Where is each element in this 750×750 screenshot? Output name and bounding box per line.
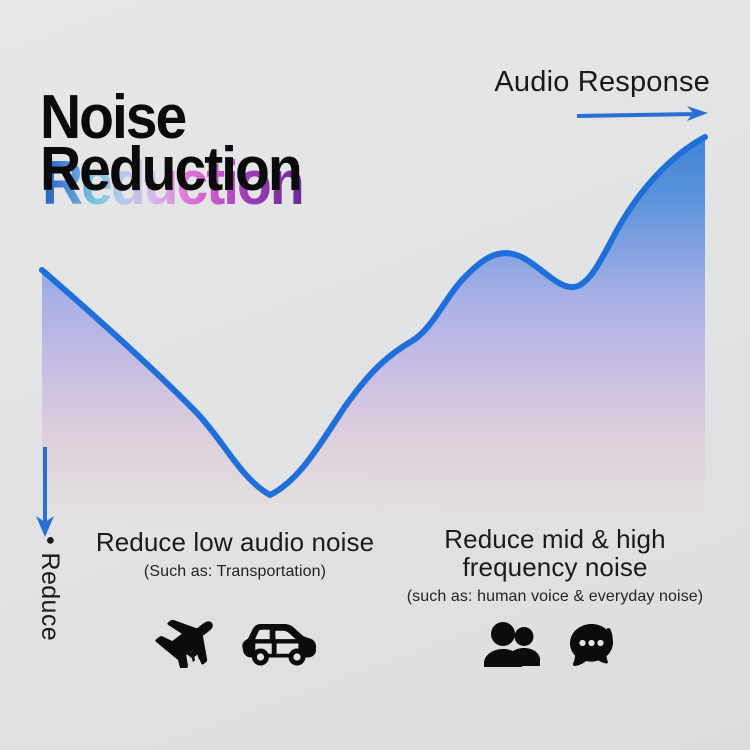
reduce-axis-label: • Reduce (35, 536, 64, 641)
caption-left-subtitle: (Such as: Transportation) (70, 563, 400, 581)
caption-left-title: Reduce low audio noise (70, 528, 400, 556)
icon-row-transportation (70, 620, 400, 668)
car-icon (242, 621, 316, 667)
headline-line-reduction: Reduction (40, 144, 301, 196)
caption-right-title-line2: frequency noise (380, 553, 730, 581)
airplane-icon (154, 620, 216, 668)
infographic-poster: Noise Reduction Reduction Audio Response… (0, 0, 750, 750)
audio-response-label: Audio Response (494, 66, 710, 99)
caption-mid-high-frequency: Reduce mid & high frequency noise (such … (380, 525, 730, 606)
caption-low-frequency: Reduce low audio noise (Such as: Transpo… (70, 528, 400, 581)
page-title: Noise Reduction Reduction (40, 92, 198, 206)
people-icon (481, 622, 545, 668)
reduce-axis: • Reduce (30, 536, 64, 696)
caption-right-title-line1: Reduce mid & high (380, 525, 730, 553)
headline-line-reduction-stack: Reduction Reduction (40, 144, 198, 206)
arrow-right-icon (575, 105, 710, 123)
icon-row-voice (380, 622, 730, 668)
caption-right-subtitle: (such as: human voice & everyday noise) (380, 588, 730, 606)
chat-bubbles-icon (567, 622, 629, 668)
audio-response-axis: Audio Response (494, 66, 710, 123)
